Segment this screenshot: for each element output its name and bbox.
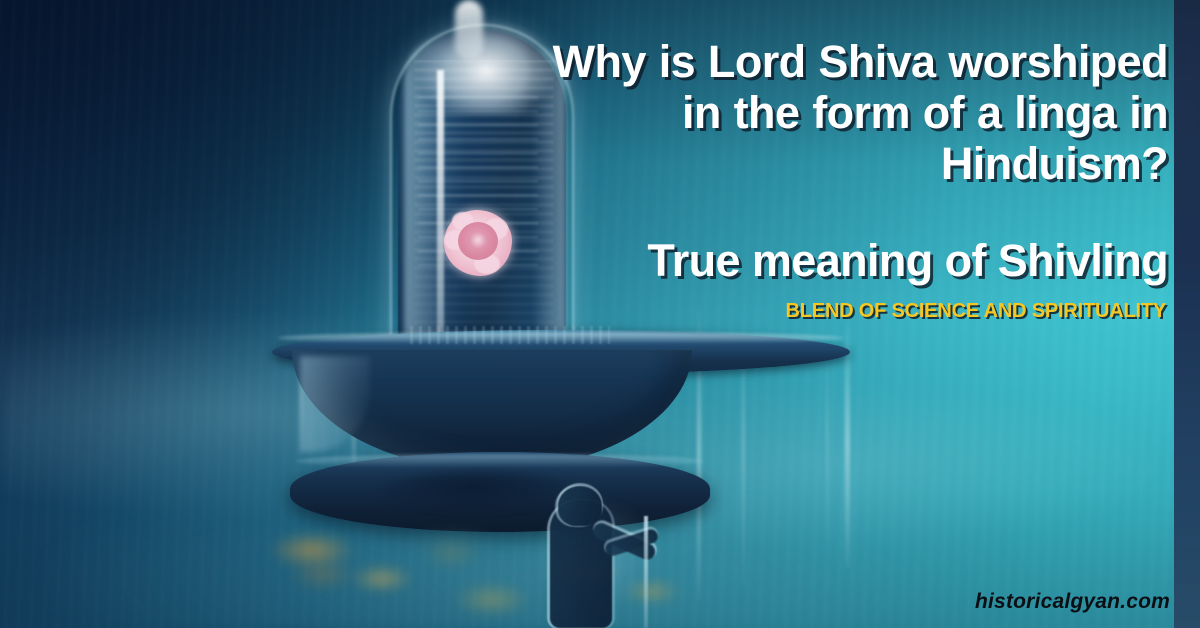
- right-edge-strip: [1174, 0, 1200, 628]
- water-jet-icon: [455, 0, 483, 60]
- right-strip-texture: [1174, 0, 1200, 628]
- promo-banner: Why is Lord Shiva worshiped in the form …: [0, 0, 1200, 628]
- headline: Why is Lord Shiva worshiped in the form …: [548, 36, 1168, 189]
- text-column: Why is Lord Shiva worshiped in the form …: [548, 0, 1168, 628]
- site-watermark[interactable]: historicalgyan.com: [975, 590, 1170, 614]
- water-crown-splash: [400, 0, 572, 114]
- tagline: BLEND OF SCIENCE AND SPIRITUALITY: [546, 299, 1166, 323]
- rose-flower-icon: [444, 210, 512, 276]
- rose-center: [469, 232, 487, 248]
- subheadline: True meaning of Shivling: [548, 236, 1168, 286]
